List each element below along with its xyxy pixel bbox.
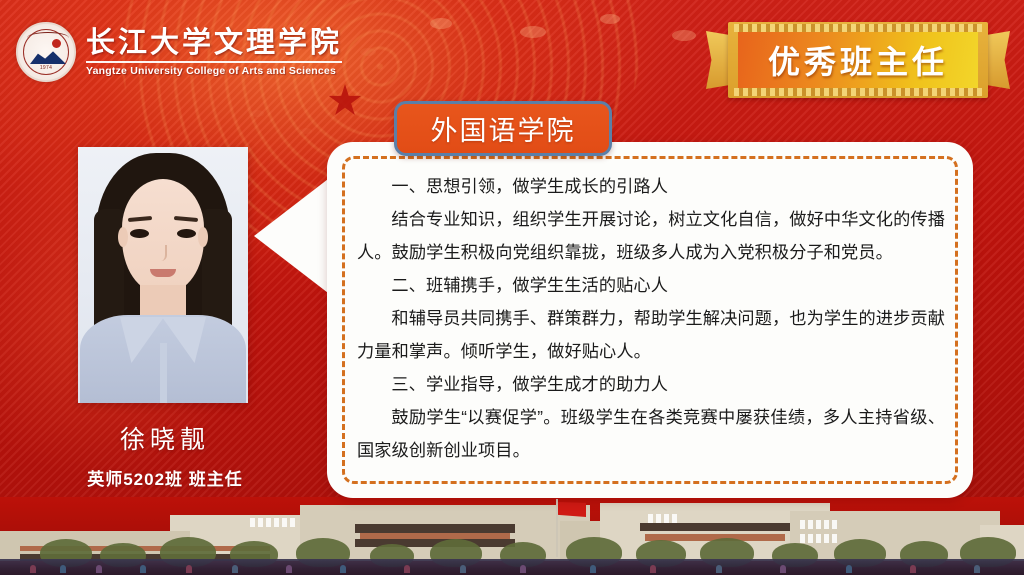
institution-name-cn: 长江大学文理学院: [86, 27, 342, 57]
content-paragraph: 二、班辅携手，做学生生活的贴心人: [357, 269, 945, 302]
content-body: 一、思想引领，做学生成长的引路人 结合专业知识，组织学生开展讨论，树立文化自信，…: [357, 170, 945, 474]
seal-sun: [52, 39, 61, 48]
content-card: 一、思想引领，做学生成长的引路人 结合专业知识，组织学生开展讨论，树立文化自信，…: [327, 142, 973, 498]
card-pointer-arrow: [254, 176, 332, 296]
seal-year: 1974: [18, 65, 74, 71]
ribbon-edge-top: [734, 24, 982, 32]
institution-name-block: 长江大学文理学院 Yangtze University College of A…: [86, 27, 342, 76]
ribbon-edge-bottom: [734, 88, 982, 96]
campus-windows: [648, 514, 677, 523]
institution-name-en: Yangtze University College of Arts and S…: [86, 65, 342, 77]
campus-crowd-detail: [0, 561, 1024, 573]
campus-windows: [800, 520, 837, 529]
portrait-eye: [130, 229, 149, 238]
portrait-ear: [198, 227, 208, 247]
campus-windows: [250, 518, 295, 527]
award-ribbon: 优秀班主任: [712, 22, 1004, 98]
section-title-badge: 外国语学院: [394, 101, 612, 156]
campus-building-photo: [0, 497, 1024, 575]
content-paragraph: 结合专业知识，组织学生开展讨论，树立文化自信，做好中华文化的传播人。鼓励学生积极…: [357, 203, 945, 269]
seal-arc: [27, 32, 69, 44]
portrait-mouth: [150, 269, 176, 277]
portrait-photo: [78, 147, 248, 403]
institution-logo: 1974 长江大学文理学院 Yangtze University College…: [16, 22, 342, 82]
portrait-eye: [177, 229, 196, 238]
section-title-label: 外国语学院: [431, 109, 576, 148]
logo-divider: [86, 61, 342, 63]
profile-name-block: 徐晓靓 英师5202班 班主任: [20, 420, 310, 490]
university-seal-icon: 1974: [16, 22, 76, 82]
content-paragraph: 和辅导员共同携手、群策群力，帮助学生解决问题，也为学生的进步贡献力量和掌声。倾听…: [357, 302, 945, 368]
flag-icon: [558, 502, 586, 517]
portrait-nose: [159, 245, 167, 261]
campus-building-detail: [355, 524, 515, 533]
profile-name: 徐晓靓: [20, 420, 310, 456]
seal-mountain: [30, 50, 66, 64]
ribbon-inner-panel: 优秀班主任: [738, 32, 978, 88]
profile-role: 英师5202班 班主任: [20, 465, 310, 490]
content-paragraph: 三、学业指导，做学生成才的助力人: [357, 368, 945, 401]
campus-building-detail: [640, 523, 790, 531]
portrait-ear: [118, 227, 128, 247]
content-paragraph: 鼓励学生“以赛促学”。班级学生在各类竞赛中屡获佳绩，多人主持省级、国家级创新创业…: [357, 401, 945, 467]
award-ribbon-label: 优秀班主任: [768, 37, 948, 83]
portrait-placket: [160, 343, 167, 403]
content-paragraph: 一、思想引领，做学生成长的引路人: [357, 170, 945, 203]
ribbon-body: 优秀班主任: [728, 22, 988, 98]
